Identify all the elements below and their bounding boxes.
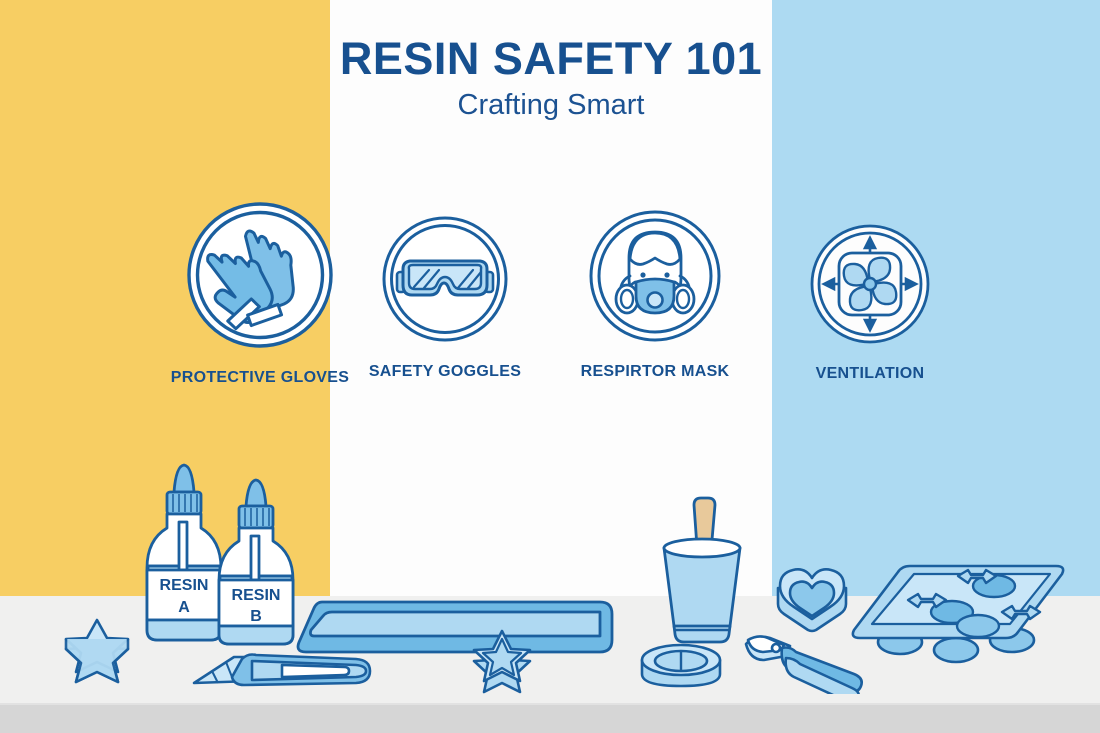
mask-icon-label: RESPIRTOR MASK [535,363,775,381]
safety-icon-row: PROTECTIVE GLOVES [0,200,1100,400]
mold-tray-icon [848,560,1068,670]
safety-item-ventilation[interactable]: VENTILATION [760,222,980,383]
mixing-cup-icon [650,490,760,650]
round-silicone-mold[interactable] [638,640,724,701]
utility-knife[interactable] [190,645,380,698]
ventilation-icon-ring [760,222,980,351]
floor-strip [0,705,1100,733]
goggles-icon-ring [325,214,565,349]
protective-gloves-icon [185,200,335,350]
star-silicone-mold-left[interactable] [52,612,142,692]
six-cavity-mold-tray[interactable] [848,560,1068,675]
star-mold-center-icon [462,625,542,697]
poster-header: RESIN SAFETY 101 Crafting Smart [330,36,772,120]
goggles-icon-label: SAFETY GOGGLES [325,363,565,381]
page-title: RESIN SAFETY 101 [330,36,772,81]
star-silicone-mold-center[interactable] [462,625,542,702]
ventilation-fan-icon [808,222,932,346]
bottle-a-label-line2: A [178,599,190,616]
utility-knife-icon [190,645,380,693]
page-subtitle: Crafting Smart [330,91,772,120]
mask-icon-ring [535,208,775,349]
respirator-mask-icon [587,208,723,344]
safety-goggles-icon [380,214,510,344]
safety-item-mask[interactable]: RESPIRTOR MASK [535,208,775,381]
bottle-b-label-line2: B [250,608,262,625]
ventilation-icon-label: VENTILATION [760,365,980,383]
safety-item-goggles[interactable]: SAFETY GOGGLES [325,214,565,381]
round-mold-icon [638,640,724,696]
bottle-a-label-line1: RESIN [160,577,209,594]
poster-canvas: RESIN SAFETY 101 Crafting Smart [0,0,1100,733]
bottle-b-label-line1: RESIN [232,587,281,604]
star-mold-icon [52,612,142,687]
